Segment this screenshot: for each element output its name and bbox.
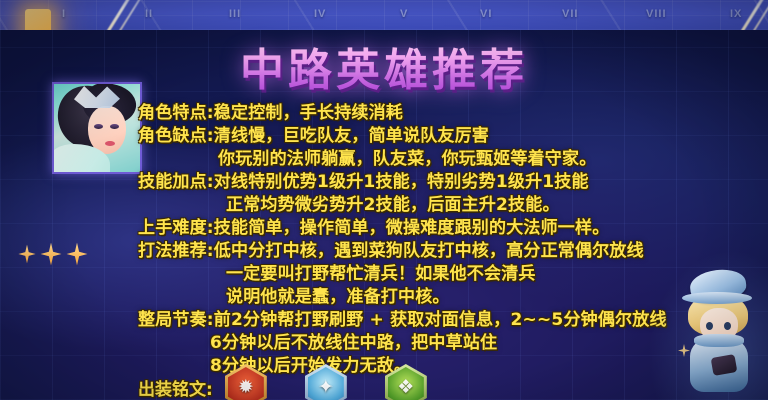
rune-green-icon[interactable]: ❖ xyxy=(385,364,427,400)
rune-blue-glyph: ✦ xyxy=(318,378,334,397)
orange-square-icon xyxy=(25,9,51,30)
rune-green-glyph: ❖ xyxy=(397,378,414,397)
guide-line: 6分钟以后不放线住中路，把中草站住 xyxy=(138,332,768,355)
roman-numeral-9: IX xyxy=(730,8,742,20)
roman-numeral-2: II xyxy=(145,8,153,20)
chibi-eye-left xyxy=(706,322,713,330)
guide-line: 技能加点:对线特别优势1级升1技能，特别劣势1级升1技能 xyxy=(138,171,768,194)
chibi-sparkle-icon xyxy=(678,344,690,357)
guide-line: 一定要叫打野帮忙清兵！如果他不会清兵 xyxy=(138,263,768,286)
portrait-eye-left xyxy=(94,124,103,129)
four-point-star-icon xyxy=(41,243,62,266)
roman-numeral-3: III xyxy=(229,8,241,20)
rune-red-glyph: ✹ xyxy=(238,378,254,397)
roman-numeral-5: V xyxy=(400,8,408,20)
roman-numeral-8: VIII xyxy=(646,8,667,20)
guide-line: 正常均势微劣势升2技能，后面主升2技能。 xyxy=(138,194,768,217)
guide-line: 上手难度:技能简单，操作简单，微操难度跟别的大法师一样。 xyxy=(138,217,768,240)
rating-stars xyxy=(16,242,90,268)
guide-line: 打法推荐:低中分打中核，遇到菜狗队友打中核，高分正常偶尔放线 xyxy=(138,240,768,263)
portrait-eye-right xyxy=(110,124,119,129)
runes-section: 出装铭文: ✹ ✦ ❖ xyxy=(138,364,465,400)
roman-numeral-4: IV xyxy=(314,8,326,20)
poster-canvas: I II III IV V VI VII VIII IX 中路英雄推荐 角色特点… xyxy=(0,0,768,400)
hero-portrait xyxy=(52,82,142,174)
four-point-star-icon xyxy=(18,245,35,264)
portrait-lips xyxy=(105,141,115,146)
guide-line: 角色特点:稳定控制，手长持续消耗 xyxy=(138,102,768,125)
guide-line: 整局节奏:前2分钟帮打野刷野 + 获取对面信息，2~~5分钟偶尔放线 xyxy=(138,309,768,332)
roman-numeral-1: I xyxy=(62,8,66,20)
chibi-eye-right xyxy=(724,322,731,330)
guide-line: 说明他就是蠢，准备打中核。 xyxy=(138,286,768,309)
guide-line: 你玩别的法师躺赢，队友菜，你玩甄姬等着守家。 xyxy=(138,148,768,171)
chibi-hat-brim xyxy=(682,292,752,304)
runes-label: 出装铭文: xyxy=(138,375,213,400)
guide-text-block: 角色特点:稳定控制，手长持续消耗 角色缺点:清线慢，巨吃队友，简单说队友厉害 你… xyxy=(138,102,768,378)
roman-numeral-6: VI xyxy=(480,8,492,20)
rune-blue-icon[interactable]: ✦ xyxy=(305,364,347,400)
rune-red-icon[interactable]: ✹ xyxy=(225,364,267,400)
chibi-scarf xyxy=(694,334,744,347)
top-banner: I II III IV V VI VII VIII IX xyxy=(0,0,768,30)
guide-line: 角色缺点:清线慢，巨吃队友，简单说队友厉害 xyxy=(138,125,768,148)
roman-numeral-7: VII xyxy=(562,8,578,20)
four-point-star-icon xyxy=(67,243,88,266)
chibi-mascot xyxy=(676,268,760,400)
